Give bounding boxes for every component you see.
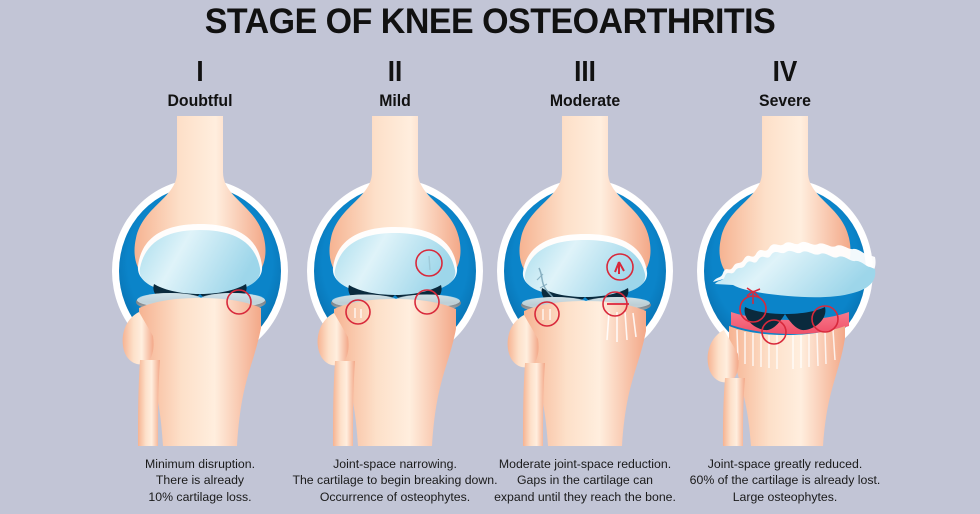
caption-line: Joint-space greatly reduced.	[655, 456, 915, 472]
page-title: STAGE OF KNEE OSTEOARTHRITIS	[15, 2, 966, 42]
stage-numeral-4: IV	[679, 58, 891, 87]
knee-illustration-4	[667, 116, 903, 446]
stage-numeral-3: III	[479, 58, 691, 87]
stage-numeral-1: I	[94, 58, 306, 87]
stage-caption-4: Joint-space greatly reduced. 60% of the …	[655, 456, 915, 505]
stage-name-3: Moderate	[475, 91, 694, 111]
caption-line: Large osteophytes.	[655, 489, 915, 505]
caption-line: 60% of the cartilage is already lost.	[655, 472, 915, 488]
stage-name-4: Severe	[675, 91, 894, 111]
stage-panel-4: IV Severe	[667, 58, 903, 514]
